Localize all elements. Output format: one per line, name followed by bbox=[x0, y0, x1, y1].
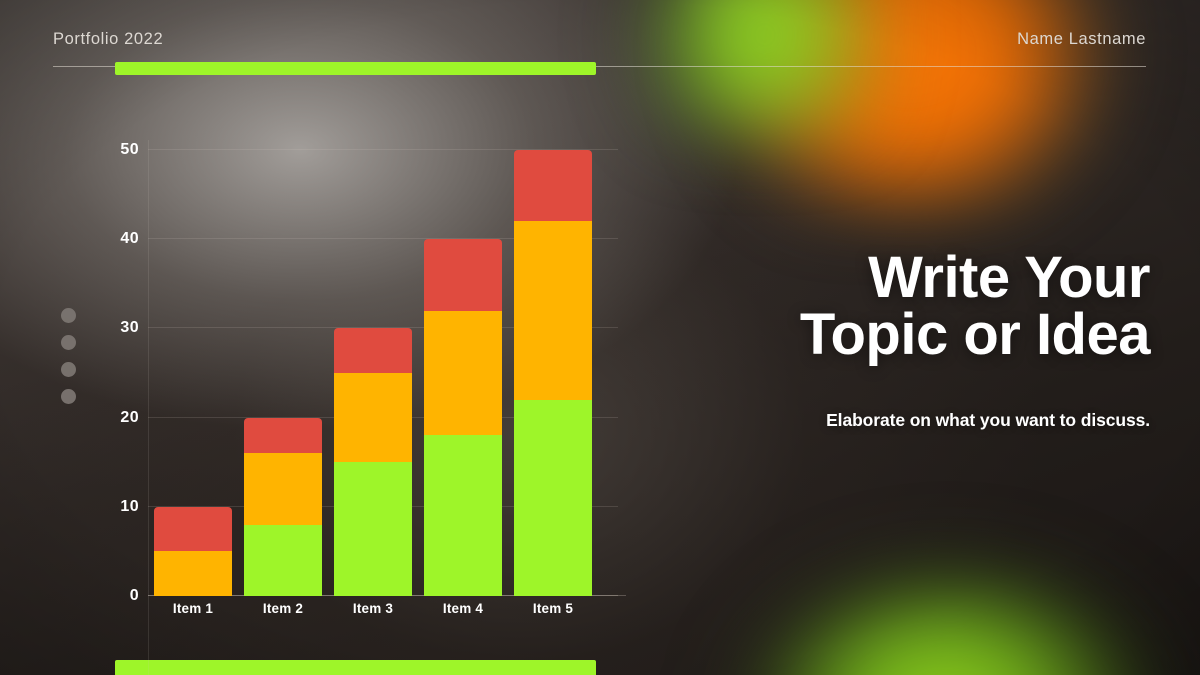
x-axis-tick-label: Item 4 bbox=[418, 601, 508, 624]
y-axis-tick-label: 30 bbox=[120, 319, 139, 337]
bar-segment-orange[interactable] bbox=[154, 551, 232, 596]
bar-segment-orange[interactable] bbox=[514, 221, 592, 399]
x-axis-tick-label: Item 1 bbox=[148, 601, 238, 624]
accent-bar-top bbox=[115, 62, 596, 75]
green-blob-bottom-decoration bbox=[690, 500, 1200, 675]
bar-segment-red[interactable] bbox=[334, 328, 412, 373]
title-line-1: Write Your bbox=[868, 245, 1150, 310]
green-blob-top-decoration bbox=[560, 0, 890, 140]
slide-title: Write Your Topic or Idea bbox=[700, 250, 1150, 364]
author-name-label: Name Lastname bbox=[1017, 30, 1146, 49]
slide-subtitle: Elaborate on what you want to discuss. bbox=[700, 410, 1150, 431]
portfolio-label: Portfolio 2022 bbox=[53, 30, 163, 49]
x-axis-tick-label: Item 3 bbox=[328, 601, 418, 624]
y-axis-tick-label: 50 bbox=[120, 141, 139, 159]
x-axis-tick-label: Item 5 bbox=[508, 601, 598, 624]
x-axis-labels: Item 1Item 2Item 3Item 4Item 5 bbox=[148, 601, 626, 624]
bar-stack[interactable] bbox=[514, 150, 592, 596]
bar-group[interactable] bbox=[148, 507, 238, 596]
y-axis-tick-label: 10 bbox=[120, 498, 139, 516]
x-axis-tick-label: Item 2 bbox=[238, 601, 328, 624]
bar-segment-orange[interactable] bbox=[244, 453, 322, 524]
chart-plot-area: 01020304050 Item 1Item 2Item 3Item 4Item… bbox=[148, 140, 610, 675]
bar-stack[interactable] bbox=[154, 507, 232, 596]
bar-segment-green[interactable] bbox=[514, 400, 592, 596]
dot-decoration-group bbox=[61, 308, 76, 404]
decorative-dot bbox=[61, 308, 76, 323]
y-axis-tick-label: 40 bbox=[120, 230, 139, 248]
y-axis-tick-label: 20 bbox=[120, 409, 139, 427]
stacked-bar-chart: 01020304050 Item 1Item 2Item 3Item 4Item… bbox=[110, 130, 610, 600]
text-block: Write Your Topic or Idea Elaborate on wh… bbox=[700, 250, 1150, 431]
slide-canvas: Portfolio 2022 Name Lastname 01020304050… bbox=[0, 0, 1200, 675]
bar-segment-red[interactable] bbox=[244, 418, 322, 454]
decorative-dot bbox=[61, 335, 76, 350]
bar-group[interactable] bbox=[508, 150, 598, 596]
decorative-dot bbox=[61, 389, 76, 404]
bar-segment-red[interactable] bbox=[154, 507, 232, 552]
bar-segment-green[interactable] bbox=[244, 525, 322, 596]
bar-segment-red[interactable] bbox=[424, 239, 502, 310]
decorative-dot bbox=[61, 362, 76, 377]
bar-segment-red[interactable] bbox=[514, 150, 592, 221]
bar-stack[interactable] bbox=[334, 328, 412, 596]
y-axis-tick-label: 0 bbox=[130, 587, 139, 605]
bar-group[interactable] bbox=[238, 418, 328, 596]
bar-group[interactable] bbox=[418, 239, 508, 596]
bar-stack[interactable] bbox=[424, 239, 502, 596]
bar-stack[interactable] bbox=[244, 418, 322, 596]
bar-segment-orange[interactable] bbox=[334, 373, 412, 462]
bar-group[interactable] bbox=[328, 328, 418, 596]
bar-segment-green[interactable] bbox=[334, 462, 412, 596]
bar-segment-orange[interactable] bbox=[424, 311, 502, 436]
bar-segment-green[interactable] bbox=[424, 435, 502, 596]
title-line-2: Topic or Idea bbox=[800, 302, 1150, 367]
bar-series-container bbox=[148, 150, 626, 596]
